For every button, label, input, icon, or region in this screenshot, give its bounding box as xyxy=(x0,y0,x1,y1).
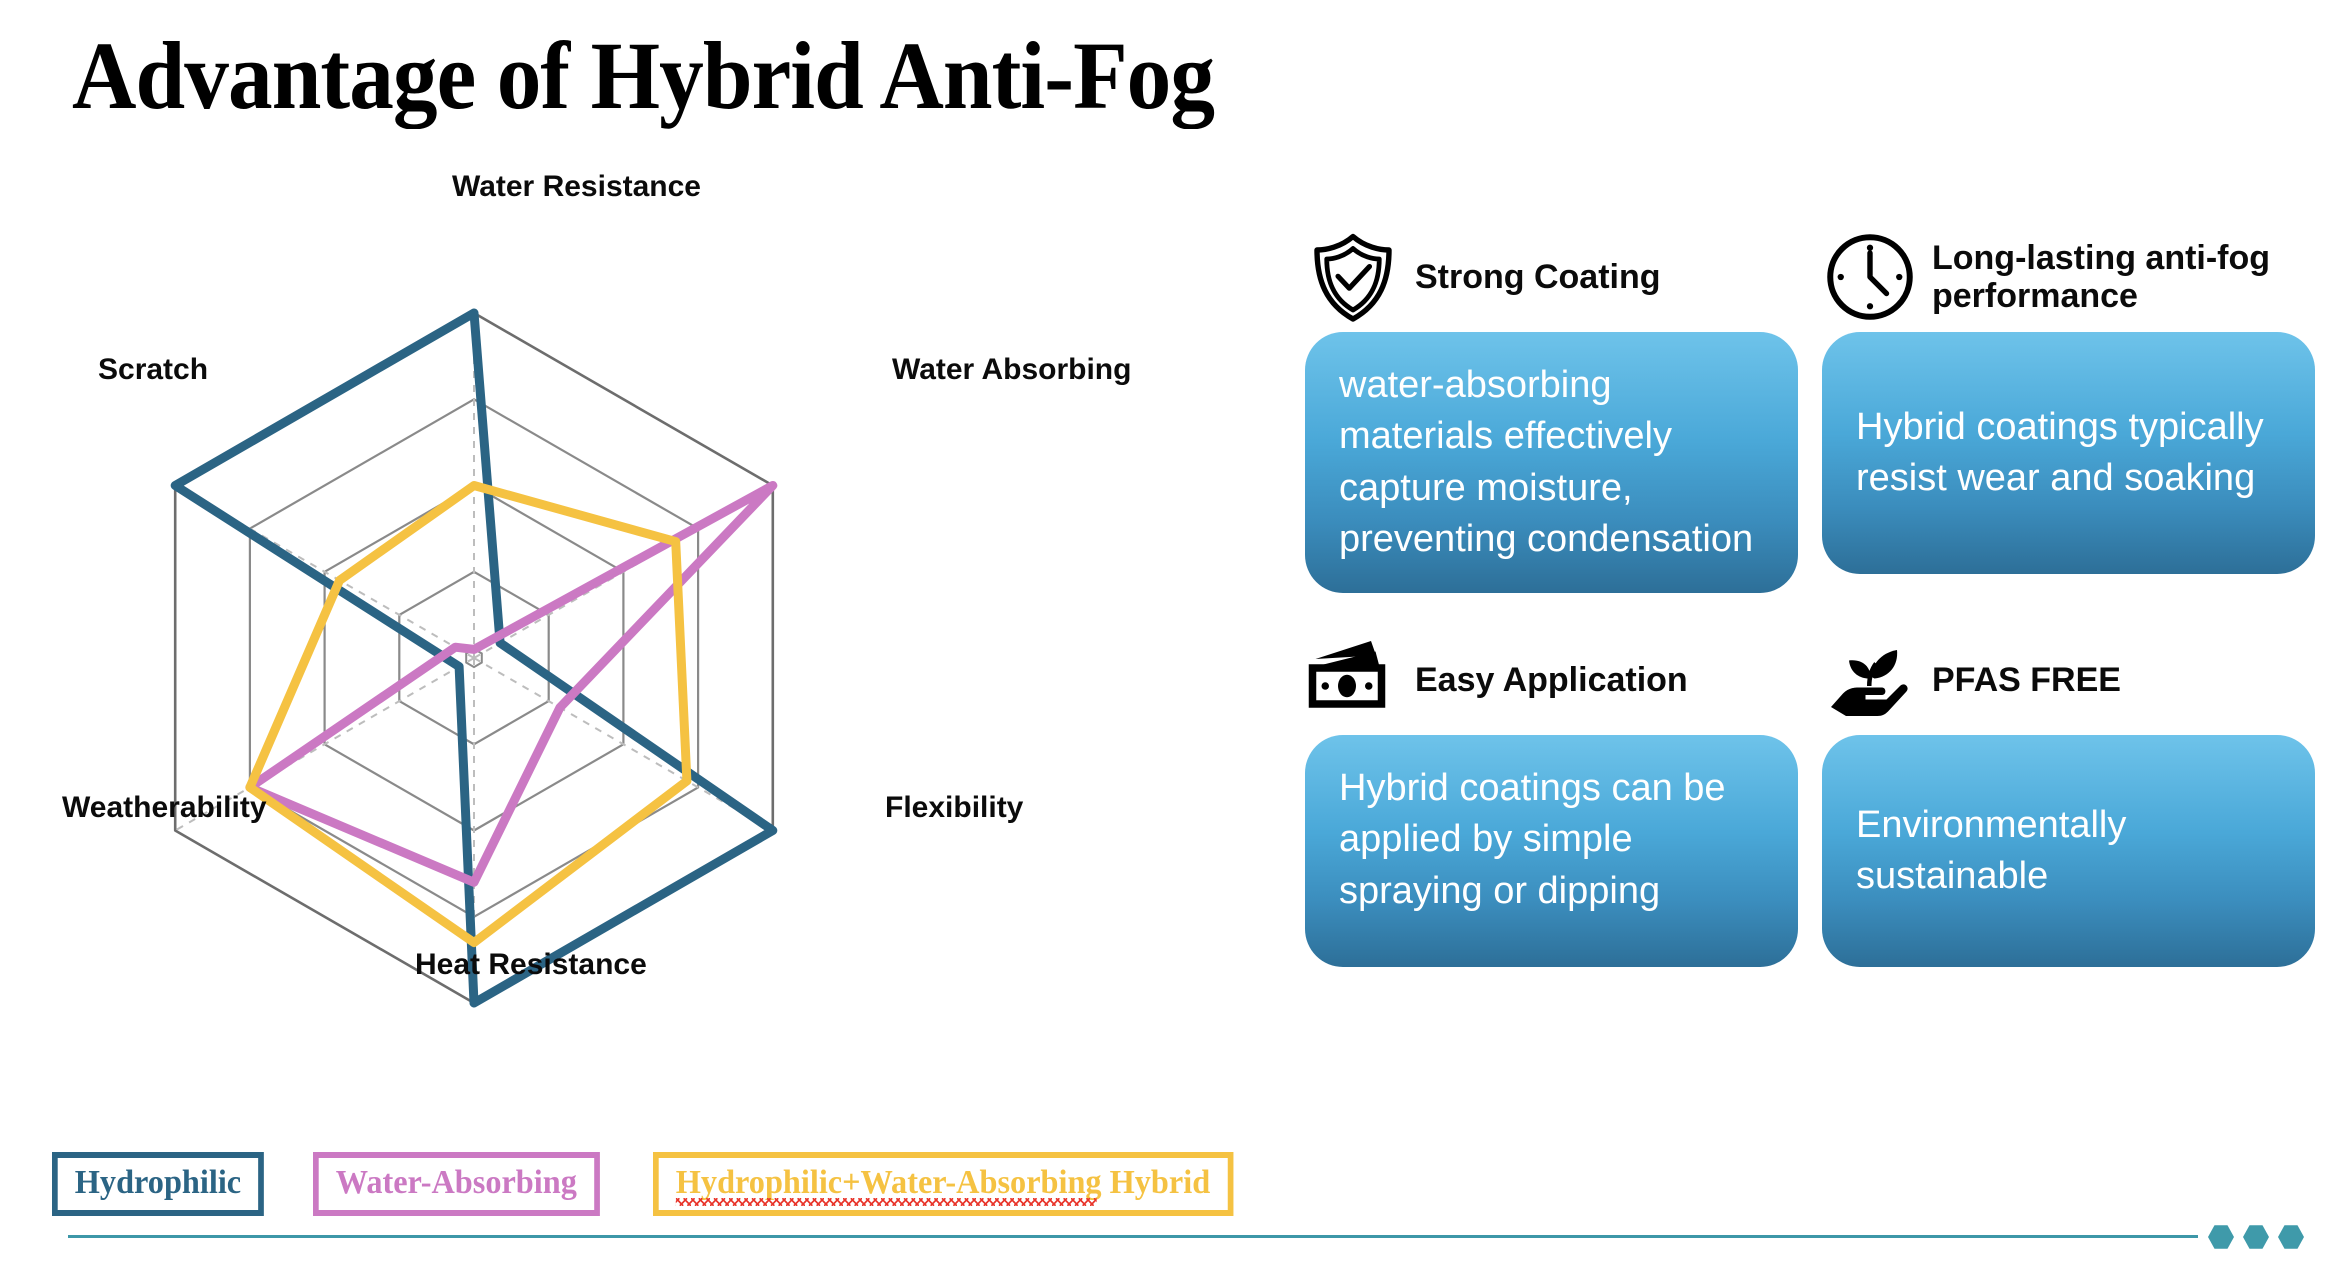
feature-heading: Easy Application xyxy=(1415,661,1688,699)
hex-dot-icon xyxy=(2208,1224,2234,1250)
hand-sprout-icon xyxy=(1822,632,1918,728)
feature-heading: Strong Coating xyxy=(1415,258,1661,296)
feature-heading: PFAS FREE xyxy=(1932,661,2121,699)
features-row-bottom: Easy Application Hybrid coatings can be … xyxy=(1305,625,2315,967)
axis-label-flexibility: Flexibility xyxy=(885,793,1023,823)
feature-card: Hybrid coatings typically resist wear an… xyxy=(1822,332,2315,574)
page-title: Advantage of Hybrid Anti-Fog xyxy=(72,28,1214,124)
hex-dot-icon xyxy=(2243,1224,2269,1250)
legend-item-water-absorbing[interactable]: Water-Absorbing xyxy=(313,1152,600,1216)
feature-strong-coating: Strong Coating water-absorbing materials… xyxy=(1305,222,1798,593)
feature-header: PFAS FREE xyxy=(1822,625,2315,735)
slide: Advantage of Hybrid Anti-Fog Water Resis… xyxy=(0,0,2346,1264)
footer-dots xyxy=(2208,1224,2304,1250)
feature-header: Long-lasting anti-fog performance xyxy=(1822,222,2315,332)
chart-legend: Hydrophilic Water-Absorbing Hydrophilic+… xyxy=(52,1152,1263,1216)
shield-check-icon xyxy=(1305,229,1401,325)
feature-card: water-absorbing materials effectively ca… xyxy=(1305,332,1798,593)
hex-dot-icon xyxy=(2278,1224,2304,1250)
legend-item-hydrophilic[interactable]: Hydrophilic xyxy=(52,1152,264,1216)
feature-pfas-free: PFAS FREE Environmentally sustainable xyxy=(1822,625,2315,967)
radar-chart-panel: Water Resistance Water Absorbing Flexibi… xyxy=(40,210,1280,1130)
axis-label-heat-resistance: Heat Resistance xyxy=(415,950,647,980)
features-row-top: Strong Coating water-absorbing materials… xyxy=(1305,222,2315,593)
spellcheck-squiggle xyxy=(676,1196,1097,1206)
axis-label-water-resistance: Water Resistance xyxy=(452,172,701,202)
feature-card: Environmentally sustainable xyxy=(1822,735,2315,967)
banknote-icon xyxy=(1305,632,1401,728)
feature-header: Strong Coating xyxy=(1305,222,1798,332)
feature-card: Hybrid coatings can be applied by simple… xyxy=(1305,735,1798,967)
features-grid: Strong Coating water-absorbing materials… xyxy=(1305,222,2315,967)
feature-heading: Long-lasting anti-fog performance xyxy=(1932,239,2315,315)
axis-label-weatherability: Weatherability xyxy=(62,793,267,823)
axis-label-scratch: Scratch xyxy=(98,355,208,385)
axis-label-water-absorbing: Water Absorbing xyxy=(892,355,1131,385)
feature-easy-application: Easy Application Hybrid coatings can be … xyxy=(1305,625,1798,967)
feature-header: Easy Application xyxy=(1305,625,1798,735)
radar-chart xyxy=(40,210,1280,1130)
feature-long-lasting: Long-lasting anti-fog performance Hybrid… xyxy=(1822,222,2315,593)
legend-item-hybrid[interactable]: Hydrophilic+Water-Absorbing Hybrid xyxy=(653,1152,1233,1216)
footer-divider xyxy=(68,1235,2198,1238)
clock-icon xyxy=(1822,229,1918,325)
